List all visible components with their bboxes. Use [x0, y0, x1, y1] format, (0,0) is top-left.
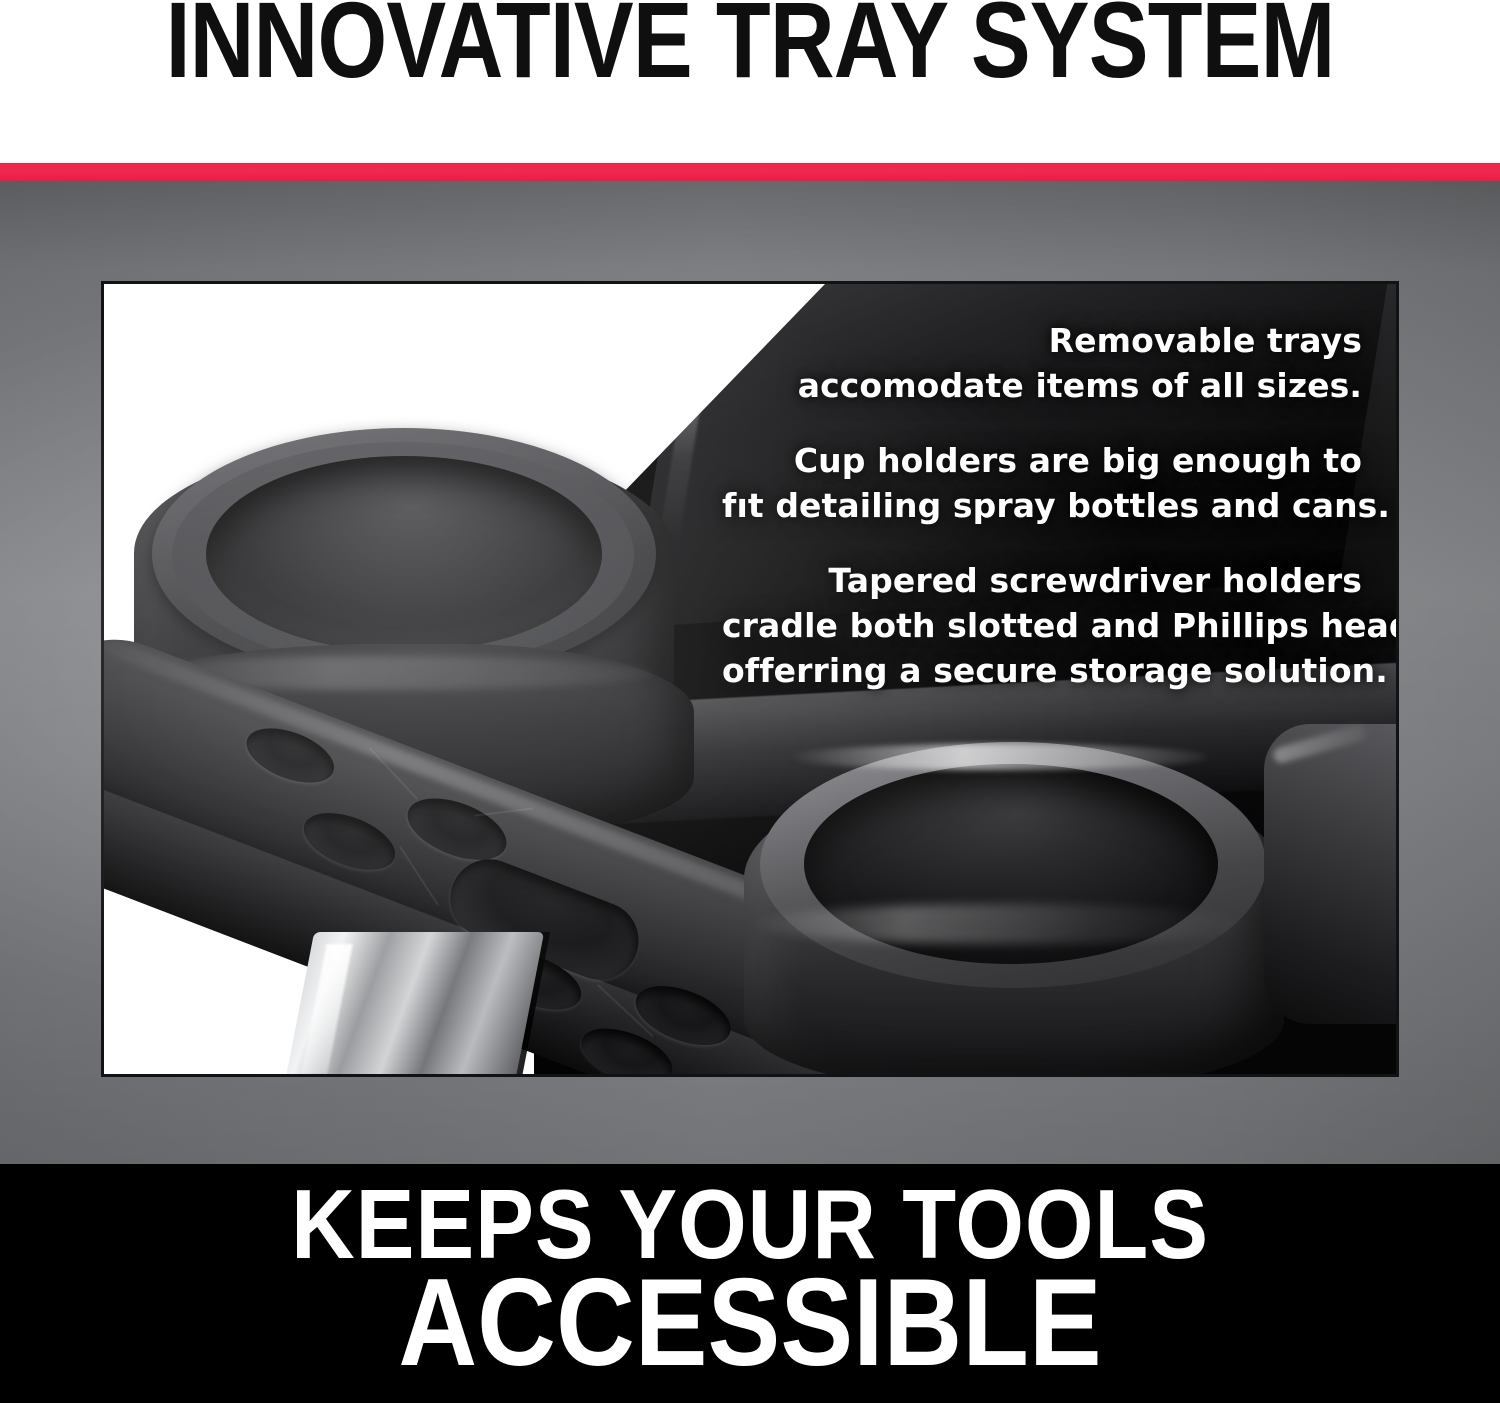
callout-cup-holders: Cup holders are big enough to fıt detail…	[722, 438, 1362, 528]
page-title: INNOVATIVE TRAY SYSTEM	[128, 0, 1373, 94]
footer-headline-secondary: ACCESSIBLE	[90, 1260, 1410, 1386]
callout-screwdriver-holders: Tapered screwdriver holders cradle both …	[722, 558, 1362, 693]
callout-line: Removable trays	[722, 318, 1362, 363]
cup-holder-left-cavity	[206, 456, 602, 652]
cup-holder-right-rim-highlight	[788, 744, 1208, 770]
stage-background: Removable trays accomodate items of all …	[0, 181, 1500, 1164]
callout-line: Tapered screwdriver holders	[722, 558, 1362, 603]
callout-removable-trays: Removable trays accomodate items of all …	[722, 318, 1362, 408]
callout-line: accomodate items of all sizes.	[722, 363, 1362, 408]
callout-line: cradle both slotted and Phillips heads,	[722, 603, 1362, 648]
callout-line: fıt detailing spray bottles and cans.	[722, 483, 1362, 528]
footer-band: KEEPS YOUR TOOLS ACCESSIBLE	[0, 1164, 1500, 1403]
callout-line: offerring a secure storage solution.	[722, 648, 1362, 693]
cup-holder-right	[744, 714, 1284, 1074]
callout-line: Cup holders are big enough to	[722, 438, 1362, 483]
accent-divider	[0, 163, 1500, 181]
product-photo: Removable trays accomodate items of all …	[104, 284, 1396, 1074]
top-headline-band: INNOVATIVE TRAY SYSTEM	[0, 0, 1500, 163]
product-photo-panel: Removable trays accomodate items of all …	[101, 281, 1399, 1077]
tray-side-pocket	[1264, 724, 1396, 1024]
callout-text-group: Removable trays accomodate items of all …	[722, 318, 1362, 693]
cup-holder-right-belt-highlight	[754, 904, 1254, 944]
